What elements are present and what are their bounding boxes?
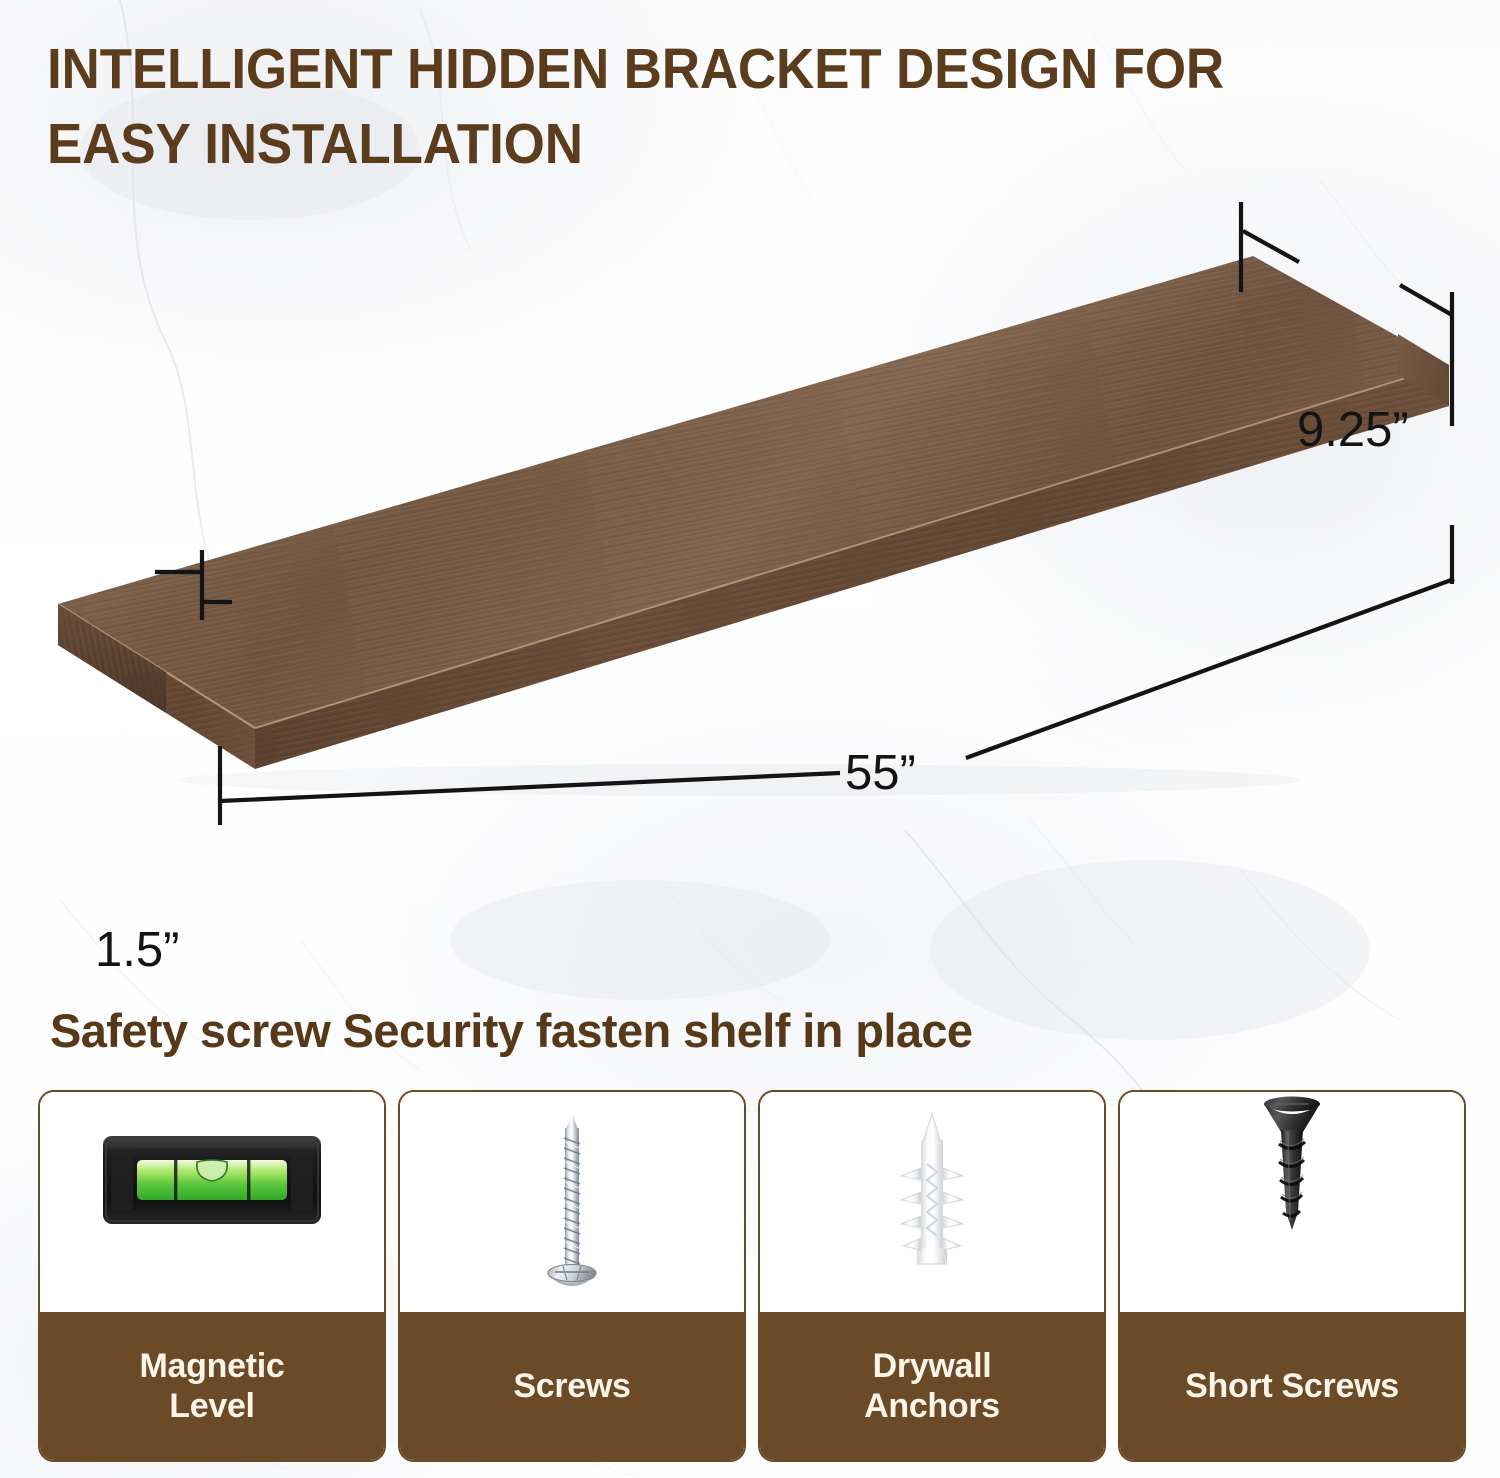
accessory-image-drywall-anchors: [760, 1092, 1104, 1312]
dimension-label-depth: 9.25”: [1297, 402, 1409, 458]
dim-line-length-b: [966, 579, 1454, 758]
accessory-card-drywall-anchors: Drywall Anchors: [758, 1090, 1106, 1462]
accessory-card-screws: Screws: [398, 1090, 746, 1462]
dimension-label-thickness: 1.5”: [95, 922, 179, 978]
screw-icon: [537, 1108, 607, 1298]
accessory-image-screws: [400, 1092, 744, 1312]
drywall-anchor-icon: [887, 1108, 977, 1288]
shelf-illustration: [0, 180, 1500, 880]
accessory-card-short-screws: Short Screws: [1118, 1090, 1466, 1462]
accessory-card-magnetic-level: Magnetic Level: [38, 1090, 386, 1462]
accessory-label-screws: Screws: [400, 1312, 744, 1460]
product-infographic: INTELLIGENT HIDDEN BRACKET DESIGN FOR EA…: [0, 0, 1500, 1478]
page-title: INTELLIGENT HIDDEN BRACKET DESIGN FOR EA…: [47, 32, 1368, 181]
accessories-row: Magnetic Level: [38, 1090, 1466, 1458]
dimension-label-length: 55”: [845, 745, 916, 801]
shelf-diagram: 9.25” 55” 1.5”: [0, 180, 1500, 880]
short-screw-icon: [1247, 1092, 1337, 1264]
accessory-image-short-screws: [1120, 1092, 1464, 1312]
accessory-label-short-screws: Short Screws: [1120, 1312, 1464, 1460]
section-subtitle: Safety screw Security fasten shelf in pl…: [50, 1003, 972, 1058]
accessory-label-drywall-anchors: Drywall Anchors: [760, 1312, 1104, 1460]
dim-line-depth-b: [1400, 285, 1452, 315]
accessory-image-magnetic-level: [40, 1092, 384, 1312]
accessory-label-magnetic-level: Magnetic Level: [40, 1312, 384, 1460]
magnetic-level-icon: [97, 1120, 327, 1240]
